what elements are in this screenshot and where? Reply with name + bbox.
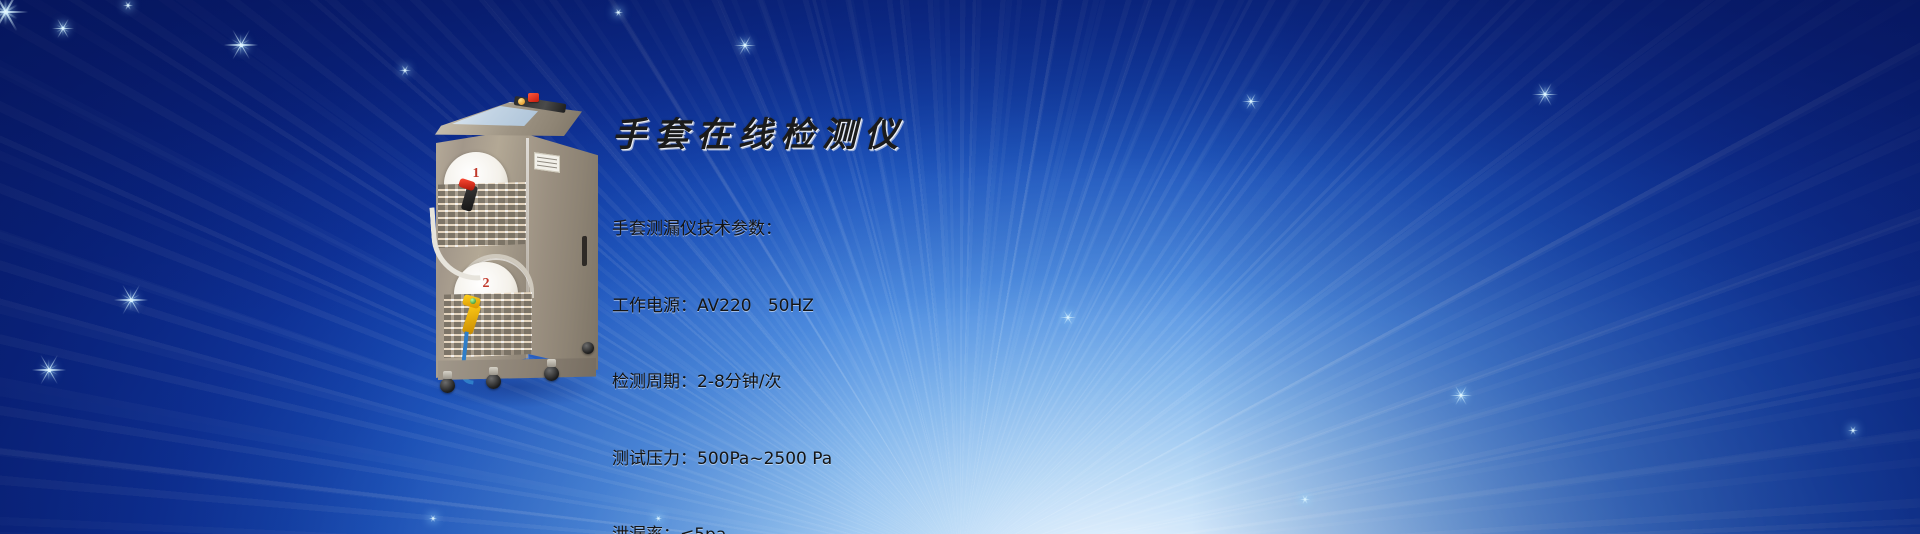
caster-wheel bbox=[582, 342, 594, 354]
amber-indicator-lamp bbox=[518, 98, 525, 105]
caster-wheel bbox=[486, 374, 501, 389]
caster-wheel bbox=[440, 378, 455, 393]
spec-item-power: 工作电源：AV220 50HZ bbox=[612, 294, 1372, 320]
spec-item-cycle: 检测周期：2-8分钟/次 bbox=[612, 370, 1372, 396]
caster-wheel bbox=[544, 366, 559, 381]
test-port-number-1: 1 bbox=[473, 166, 480, 182]
page-title: 手套在线检测仪 bbox=[612, 118, 1372, 152]
cabinet-door-handle bbox=[582, 236, 587, 267]
rating-label-plate bbox=[534, 152, 560, 173]
test-port-number-2: 2 bbox=[483, 276, 490, 292]
spec-heading: 手套测漏仪技术参数： bbox=[612, 217, 1372, 243]
product-photo-glove-leak-tester: 1 2 bbox=[418, 86, 608, 404]
cabinet-base-plinth bbox=[438, 358, 596, 380]
spec-item-leak-rate: 泄漏率：≤5pa bbox=[612, 523, 1372, 534]
perforated-vent-panel-lower bbox=[444, 292, 532, 358]
product-banner: 1 2 手套在线检测仪 手套测漏仪技术参数： 工作电源：AV220 50HZ bbox=[0, 0, 1920, 534]
banner-copy: 手套在线检测仪 手套测漏仪技术参数： 工作电源：AV220 50HZ 检测周期：… bbox=[612, 118, 1372, 534]
green-indicator-light bbox=[470, 298, 476, 304]
spec-item-pressure: 测试压力：500Pa~2500 Pa bbox=[612, 447, 1372, 473]
emergency-stop-button bbox=[528, 93, 539, 102]
spec-list: 手套测漏仪技术参数： 工作电源：AV220 50HZ 检测周期：2-8分钟/次 … bbox=[612, 166, 1372, 534]
